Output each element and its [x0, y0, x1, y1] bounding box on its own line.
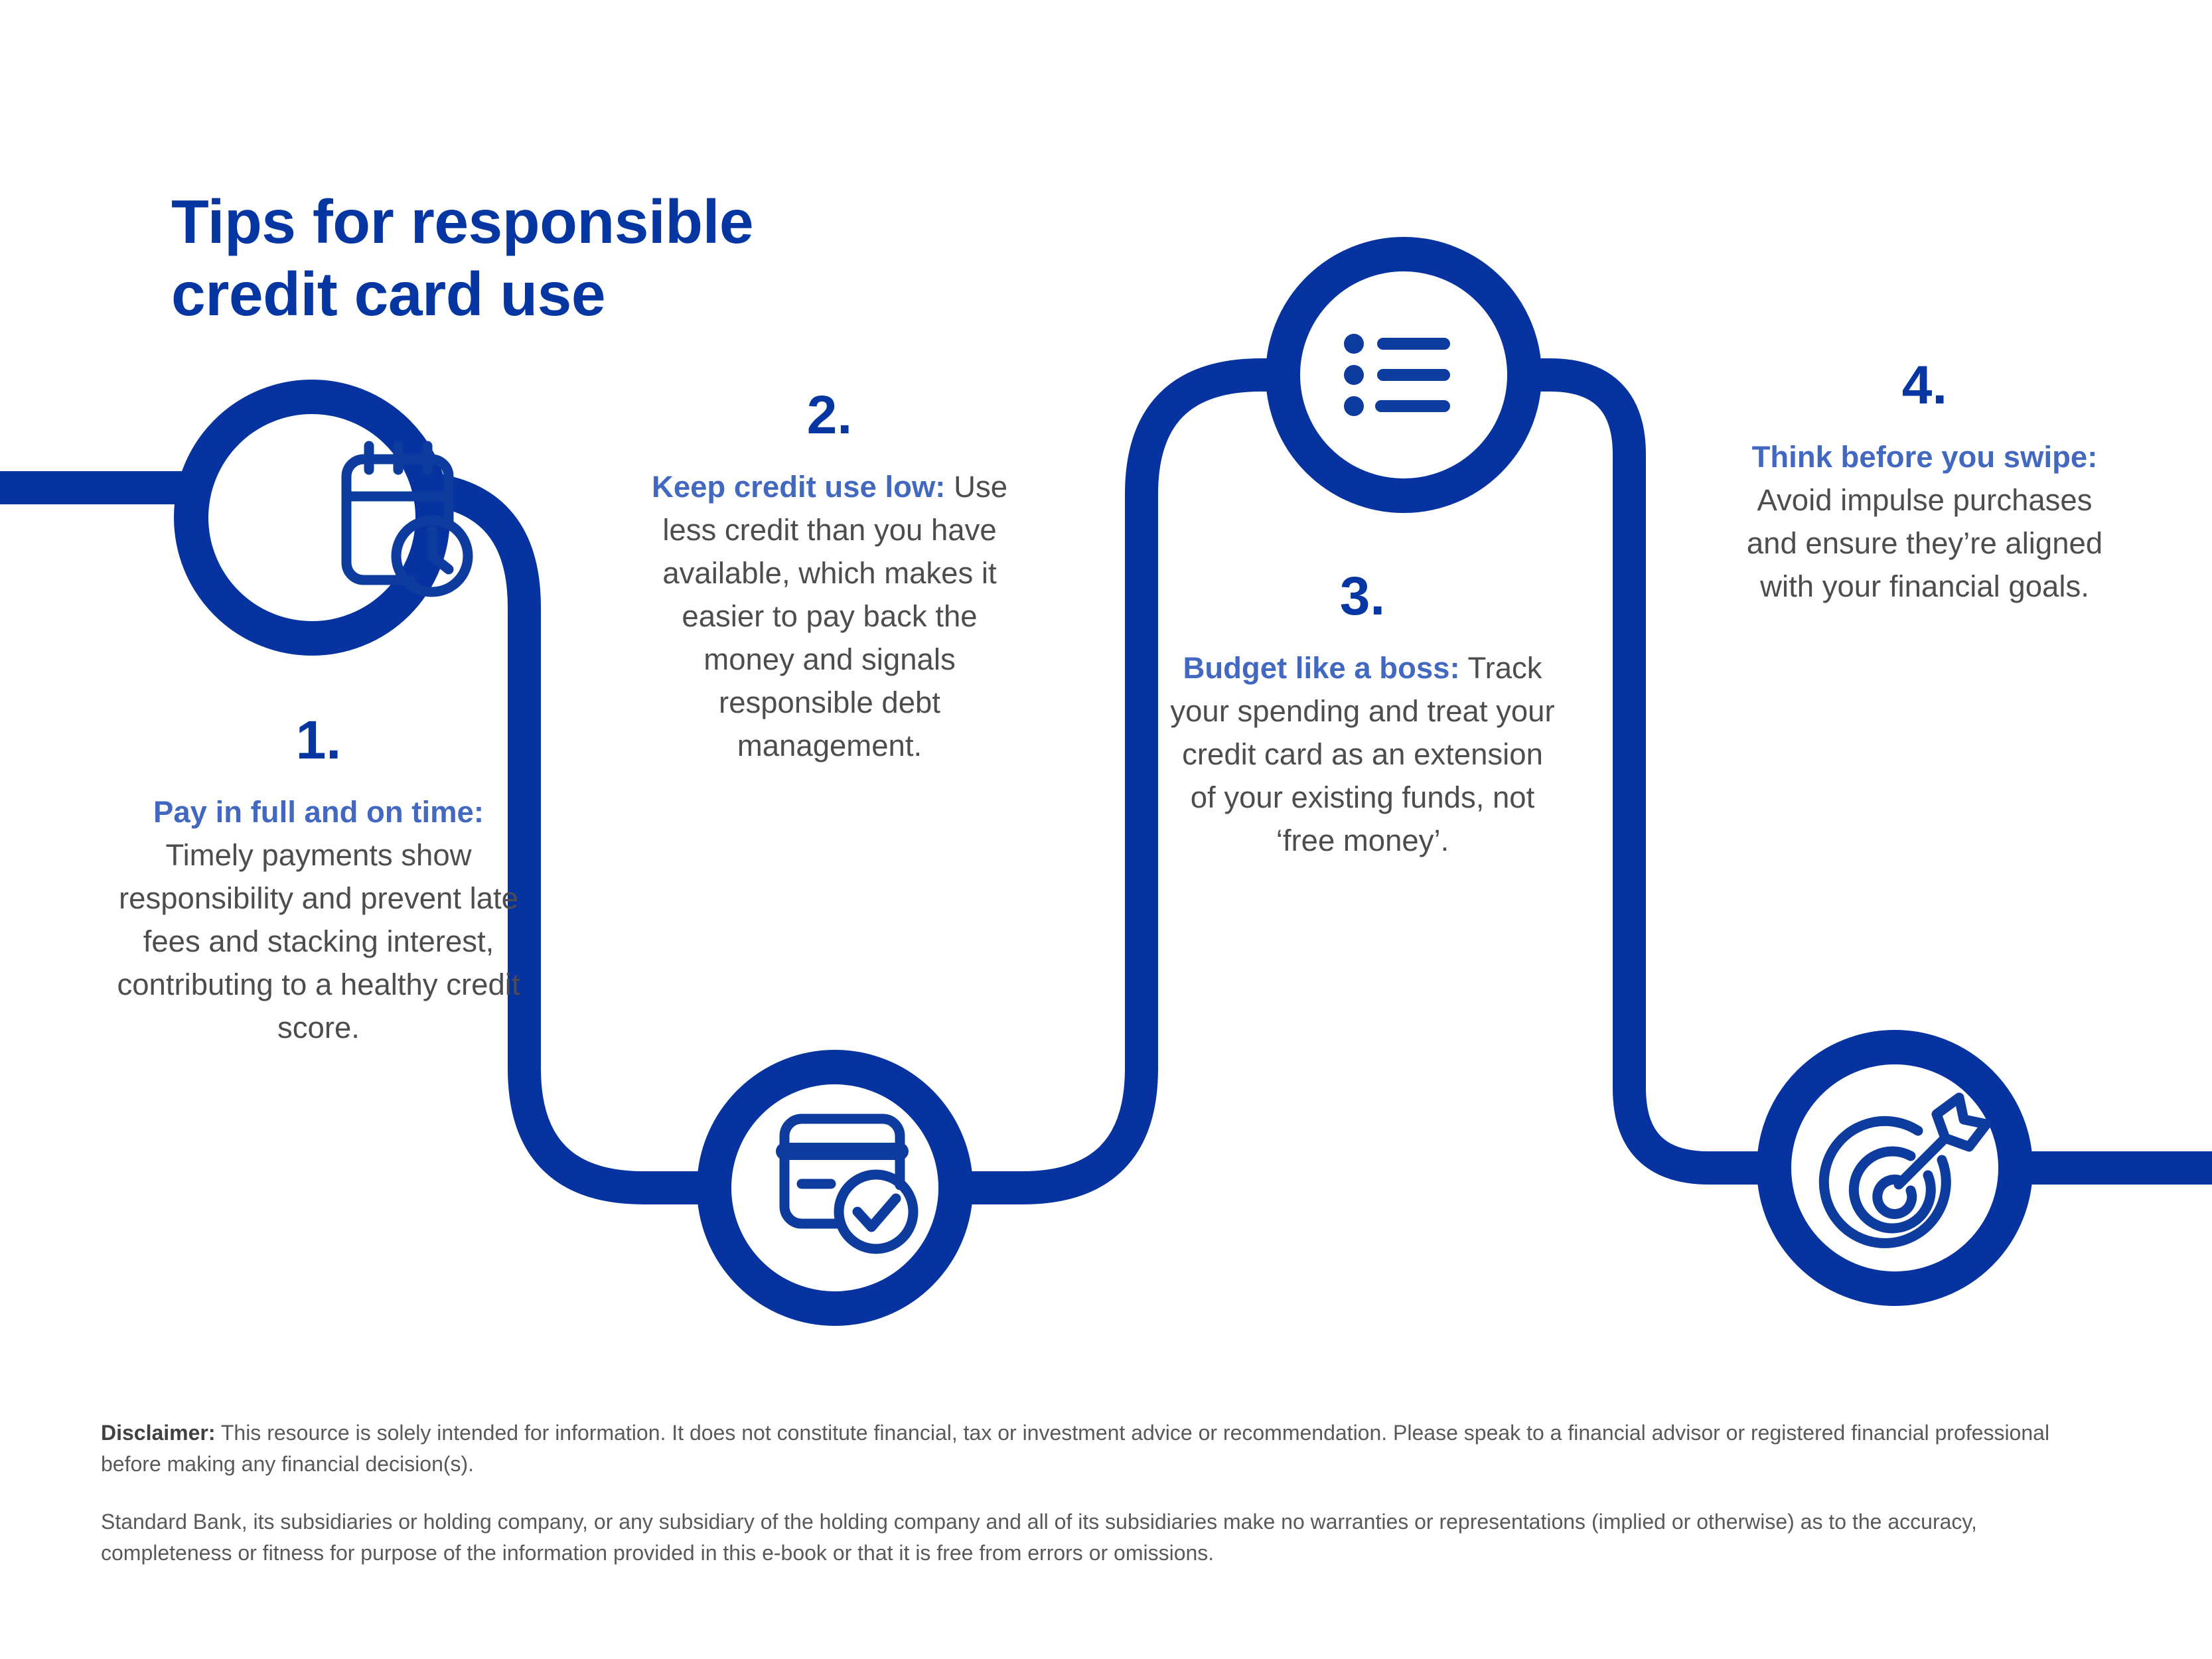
step-lead-4: Think before you swipe: [1752, 440, 2098, 474]
step-text-4: Think before you swipe: Avoid impulse pu… [1740, 435, 2109, 608]
disclaimer-paragraph-2: Standard Bank, its subsidiaries or holdi… [101, 1506, 2105, 1569]
step-lead-1: Pay in full and on time: [153, 795, 484, 829]
step-number-4: 4. [1740, 358, 2109, 413]
step-card-3: 3. Budget like a boss: Track your spendi… [1170, 569, 1555, 862]
step-card-2: 2. Keep credit use low: Use less credit … [637, 388, 1022, 767]
node-1-calendar-clock[interactable] [191, 397, 468, 638]
disclaimer-paragraph-1: Disclaimer: This resource is solely inte… [101, 1417, 2105, 1480]
page-title-line-2: credit card use [171, 258, 968, 330]
step-lead-2: Keep credit use low: [652, 470, 945, 504]
step-text-3: Budget like a boss: Track your spending … [1170, 646, 1555, 862]
node-2-ring [714, 1067, 956, 1309]
step-text-1: Pay in full and on time: Timely payments… [113, 790, 524, 1049]
step-card-1: 1. Pay in full and on time: Timely payme… [113, 713, 524, 1049]
page-title: Tips for responsible credit card use [171, 186, 968, 330]
disclaimer-label: Disclaimer: [101, 1421, 216, 1445]
node-3-bulleted-list[interactable] [1283, 254, 1524, 496]
node-4-target-dart[interactable] [1774, 1047, 2016, 1289]
page-title-line-1: Tips for responsible [171, 186, 968, 258]
bulleted-list-icon [1344, 334, 1450, 416]
step-description-4: Avoid impulse purchases and ensure they’… [1747, 483, 2102, 603]
disclaimer-text-1: This resource is solely intended for inf… [101, 1421, 2049, 1476]
step-description-1: Timely payments show responsibility and … [117, 838, 520, 1045]
step-description-2: Use less credit than you have available,… [662, 470, 1007, 762]
disclaimer-block: Disclaimer: This resource is solely inte… [101, 1417, 2105, 1569]
node-1-ring [191, 397, 433, 638]
connector-segment-3-to-4 [1516, 375, 1779, 1168]
step-number-3: 3. [1170, 569, 1555, 624]
node-4-ring [1774, 1047, 2016, 1289]
step-lead-3: Budget like a boss: [1183, 651, 1459, 685]
step-text-2: Keep credit use low: Use less credit tha… [637, 465, 1022, 767]
infographic-canvas: Tips for responsible credit card use 1. … [0, 0, 2212, 1659]
node-2-credit-card-check[interactable] [714, 1067, 956, 1309]
step-number-2: 2. [637, 388, 1022, 443]
step-number-1: 1. [113, 713, 524, 768]
step-card-4: 4. Think before you swipe: Avoid impulse… [1740, 358, 2109, 608]
